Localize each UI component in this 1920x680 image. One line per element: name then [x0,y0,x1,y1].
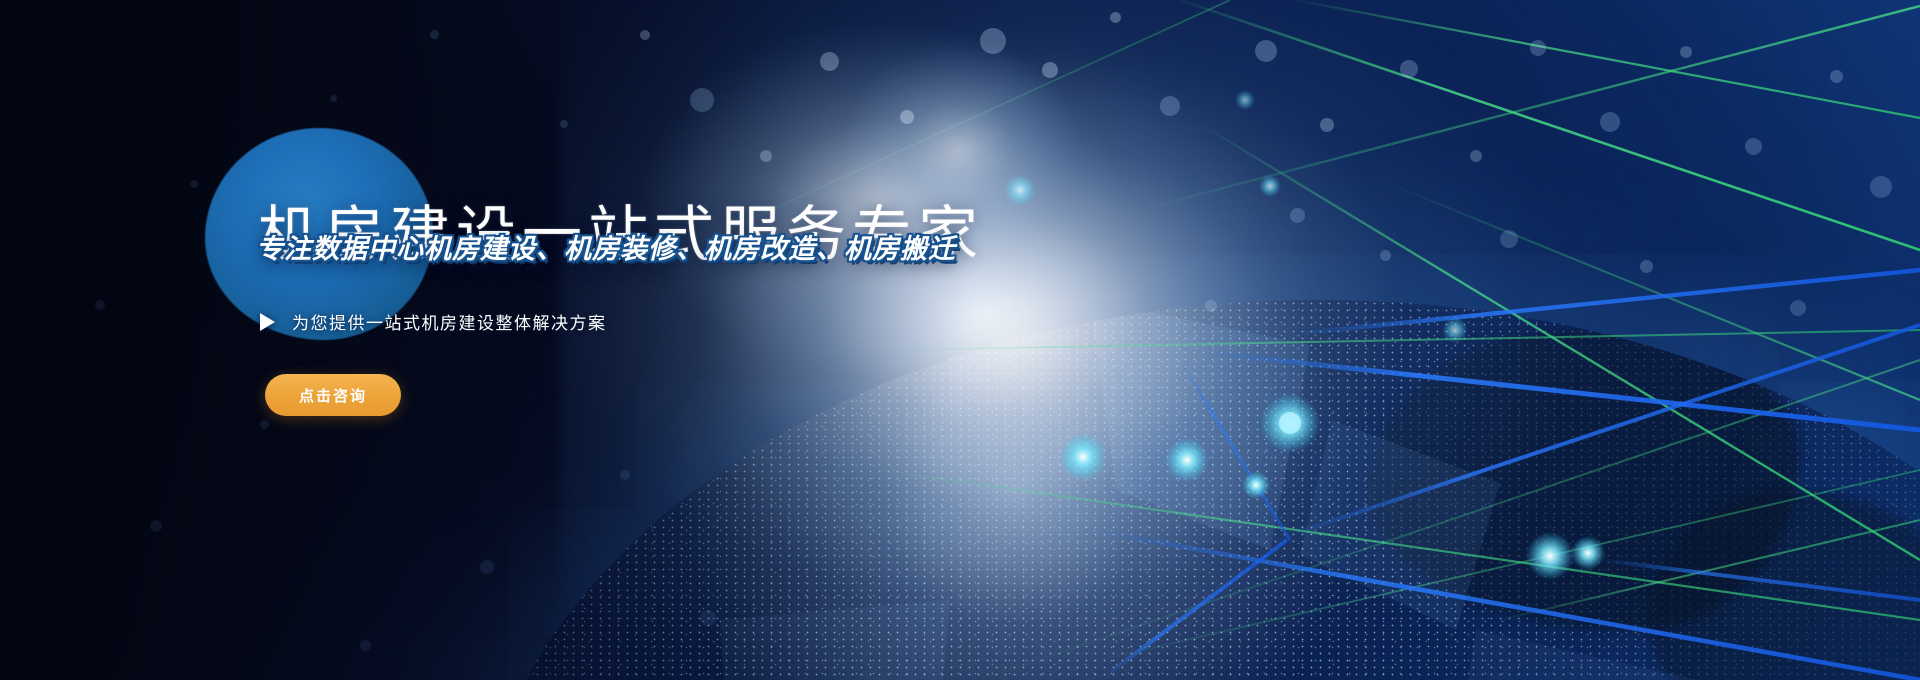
play-triangle-icon [260,313,275,331]
sub-headline: 专注数据中心机房建设、机房装修、机房改造、机房搬迁 [256,232,956,266]
tagline-text: 为您提供一站式机房建设整体解决方案 [292,309,607,334]
banner-content: 机房建设一站式服务专家 专注数据中心机房建设、机房装修、机房改造、机房搬迁 为您… [0,0,1920,680]
hero-banner: 机房建设一站式服务专家 专注数据中心机房建设、机房装修、机房改造、机房搬迁 为您… [0,0,1920,680]
consult-cta-button[interactable]: 点击咨询 [265,374,401,416]
tagline: 为您提供一站式机房建设整体解决方案 [260,309,607,334]
